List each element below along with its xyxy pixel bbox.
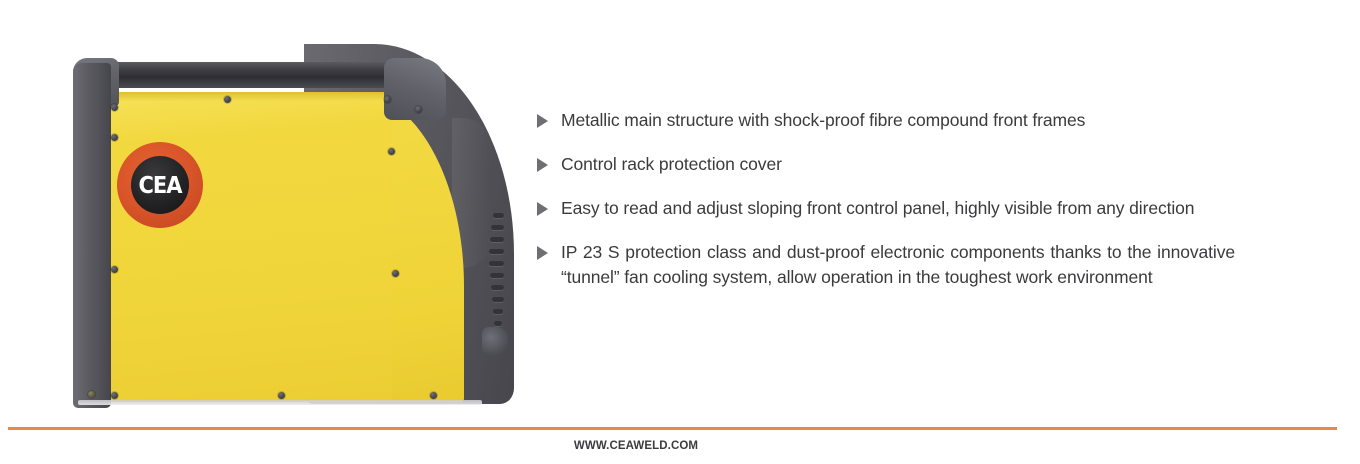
feature-text: Easy to read and adjust sloping front co… [561, 196, 1235, 221]
footer-website-url: WWW.CEAWELD.COM [0, 440, 1272, 452]
list-item: Easy to read and adjust sloping front co… [535, 196, 1235, 221]
triangle-right-icon [537, 114, 548, 128]
vent-slot [489, 261, 504, 266]
side-connector-knob [482, 327, 508, 357]
welding-machine-illustration: CEA [54, 30, 524, 408]
vent-slot [493, 309, 503, 314]
vent-slot [489, 249, 504, 254]
triangle-right-icon [537, 158, 548, 172]
screw [278, 392, 285, 399]
screw [388, 148, 395, 155]
screw [415, 106, 422, 113]
cea-logo-text: CEA [138, 173, 181, 197]
feature-text: Metallic main structure with shock-proof… [561, 108, 1235, 133]
screw [111, 104, 118, 111]
screw [111, 134, 118, 141]
list-item: Control rack protection cover [535, 152, 1235, 177]
list-item: IP 23 S protection class and dust-proof … [535, 240, 1235, 290]
screw [224, 96, 231, 103]
footer-divider [8, 427, 1337, 430]
list-item: Metallic main structure with shock-proof… [535, 108, 1235, 133]
screw [392, 270, 399, 277]
vent-slot [491, 225, 504, 230]
cea-logo: CEA [117, 142, 203, 228]
screw [384, 96, 391, 103]
triangle-right-icon [537, 246, 548, 260]
screw [111, 392, 118, 399]
vent-slot [494, 321, 502, 326]
page-root: CEA Metallic main structure with shock-p… [0, 0, 1360, 464]
feature-text: Control rack protection cover [561, 152, 1235, 177]
screw [430, 392, 437, 399]
feature-text: IP 23 S protection class and dust-proof … [561, 240, 1235, 290]
screw [111, 266, 118, 273]
vent-slot [491, 285, 504, 290]
product-image: CEA [54, 30, 524, 408]
vent-slot [493, 213, 504, 218]
bottom-rail [78, 400, 482, 405]
screw [88, 391, 95, 398]
left-frame-post [73, 63, 111, 408]
carry-handle-bar [102, 62, 402, 88]
vent-slot [492, 297, 504, 302]
triangle-right-icon [537, 202, 548, 216]
vent-slot [490, 273, 504, 278]
cooling-vent-slots [488, 213, 504, 337]
yellow-body-panel [106, 92, 392, 402]
vent-slot [490, 237, 504, 242]
cea-logo-disc: CEA [131, 156, 189, 214]
feature-list: Metallic main structure with shock-proof… [535, 108, 1235, 290]
